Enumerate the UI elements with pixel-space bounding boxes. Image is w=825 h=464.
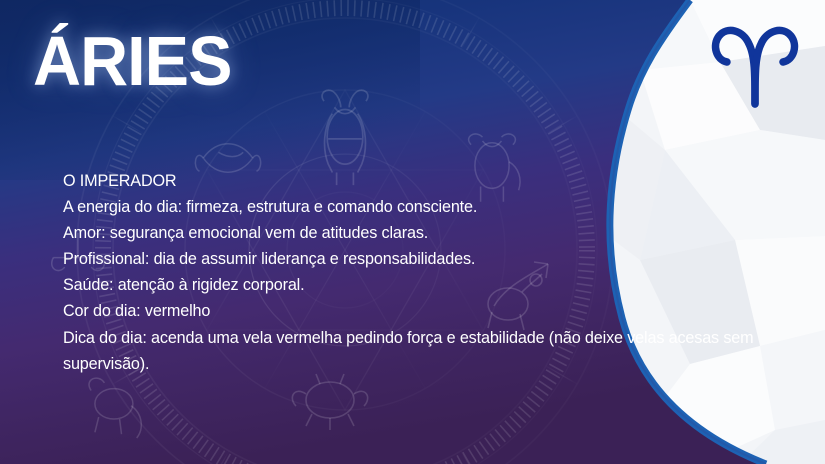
- horoscope-line-color: Cor do dia: vermelho: [63, 298, 769, 324]
- horoscope-card: ÁRIES O IMPERADOR A energia do dia: firm…: [0, 0, 825, 464]
- horoscope-line-energy: A energia do dia: firmeza, estrutura e c…: [63, 194, 769, 220]
- card-content: ÁRIES O IMPERADOR A energia do dia: firm…: [0, 0, 825, 464]
- aries-symbol-svg: [705, 16, 805, 108]
- horoscope-body: O IMPERADOR A energia do dia: firmeza, e…: [63, 168, 769, 377]
- horoscope-line-tarot: O IMPERADOR: [63, 168, 769, 194]
- horoscope-line-work: Profissional: dia de assumir liderança e…: [63, 246, 769, 272]
- horoscope-line-tip: Dica do dia: acenda uma vela vermelha pe…: [63, 325, 769, 377]
- page-title: ÁRIES: [33, 26, 231, 96]
- aries-symbol-icon: [705, 16, 805, 108]
- horoscope-line-love: Amor: segurança emocional vem de atitude…: [63, 220, 769, 246]
- horoscope-line-health: Saúde: atenção à rigidez corporal.: [63, 272, 769, 298]
